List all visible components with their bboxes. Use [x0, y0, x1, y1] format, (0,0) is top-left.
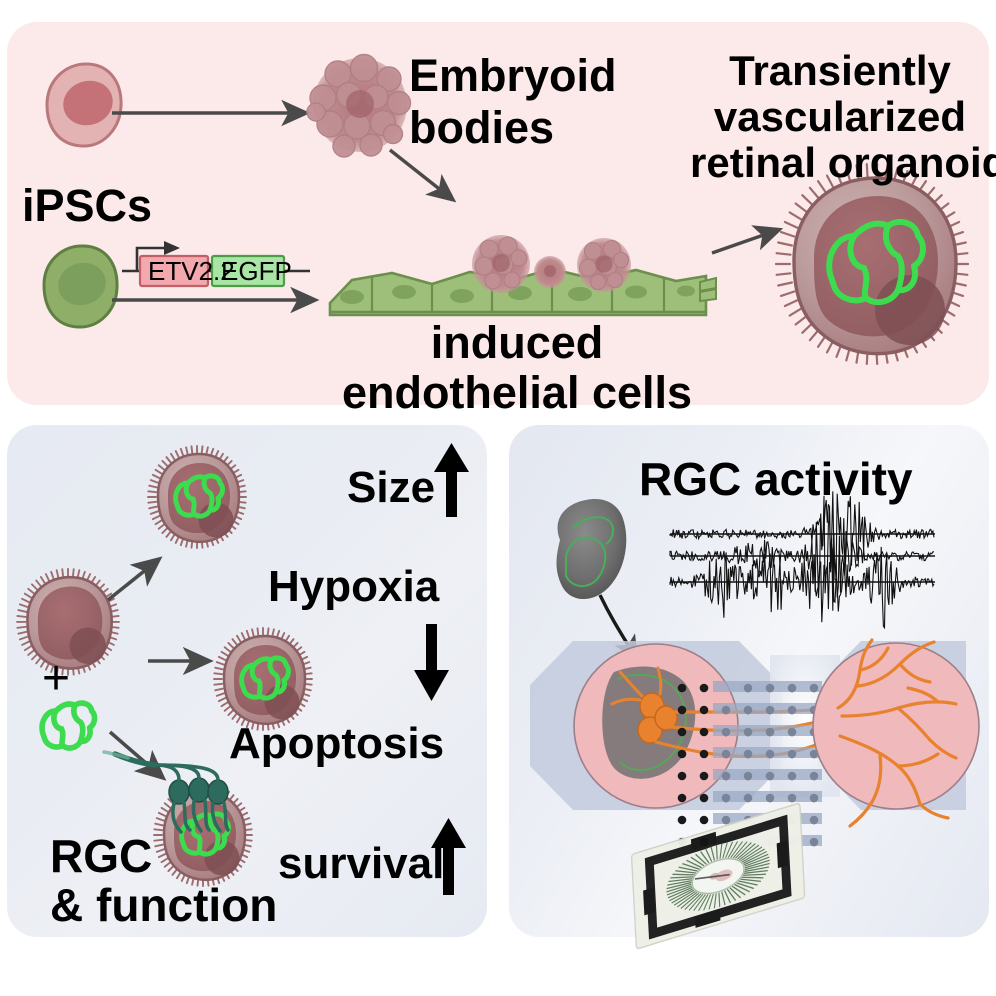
label-gene-egfp: EGFP	[221, 258, 292, 284]
label-survival: survival	[278, 842, 444, 886]
label-embryoid-bodies: Embryoid bodies	[409, 50, 617, 154]
label-apoptosis: Apoptosis	[229, 722, 444, 766]
label-hypoxia: Hypoxia	[268, 565, 439, 609]
label-size: Size	[347, 466, 435, 510]
label-ipscs: iPSCs	[22, 183, 152, 228]
label-rgc-activity: RGC activity	[639, 456, 913, 502]
label-organoids: Transiently vascularized retinal organoi…	[690, 48, 990, 186]
label-plus: +	[42, 655, 70, 703]
label-induced-endothelial-cells: induced endothelial cells	[322, 318, 712, 418]
label-function: & function	[50, 882, 277, 928]
label-rgc: RGC	[50, 833, 152, 879]
